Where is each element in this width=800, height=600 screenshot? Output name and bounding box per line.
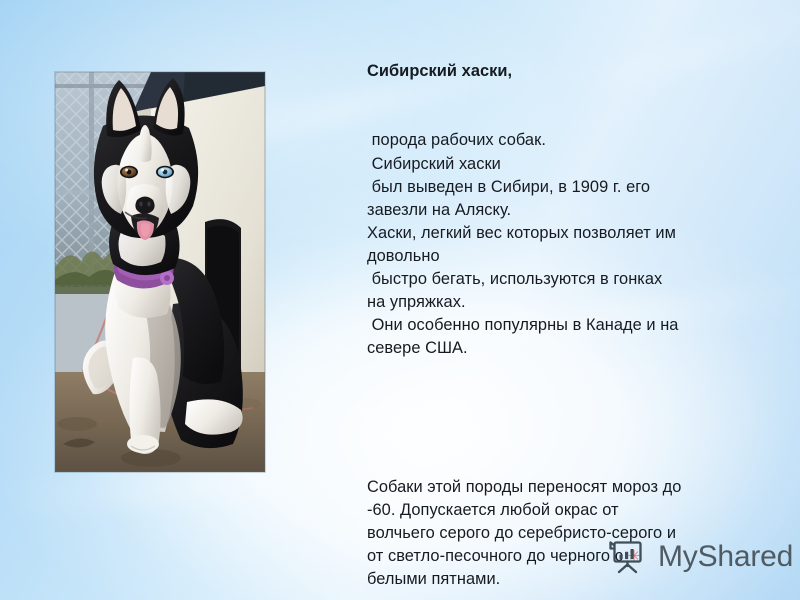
myshared-wordmark: MyShared <box>658 542 793 572</box>
presentation-chart-icon <box>607 536 649 578</box>
husky-paragraph-1: порода рабочих собак. Сибирский хаски бы… <box>367 129 787 360</box>
husky-photo <box>55 72 265 472</box>
paragraph-spacer <box>367 407 787 430</box>
myshared-logo[interactable]: MyShared <box>607 536 793 578</box>
husky-title: Сибирский хаски, <box>367 60 787 83</box>
slide-canvas: Сибирский хаски, порода рабочих собак. С… <box>0 0 800 600</box>
slide-text-block: Сибирский хаски, порода рабочих собак. С… <box>367 14 787 600</box>
